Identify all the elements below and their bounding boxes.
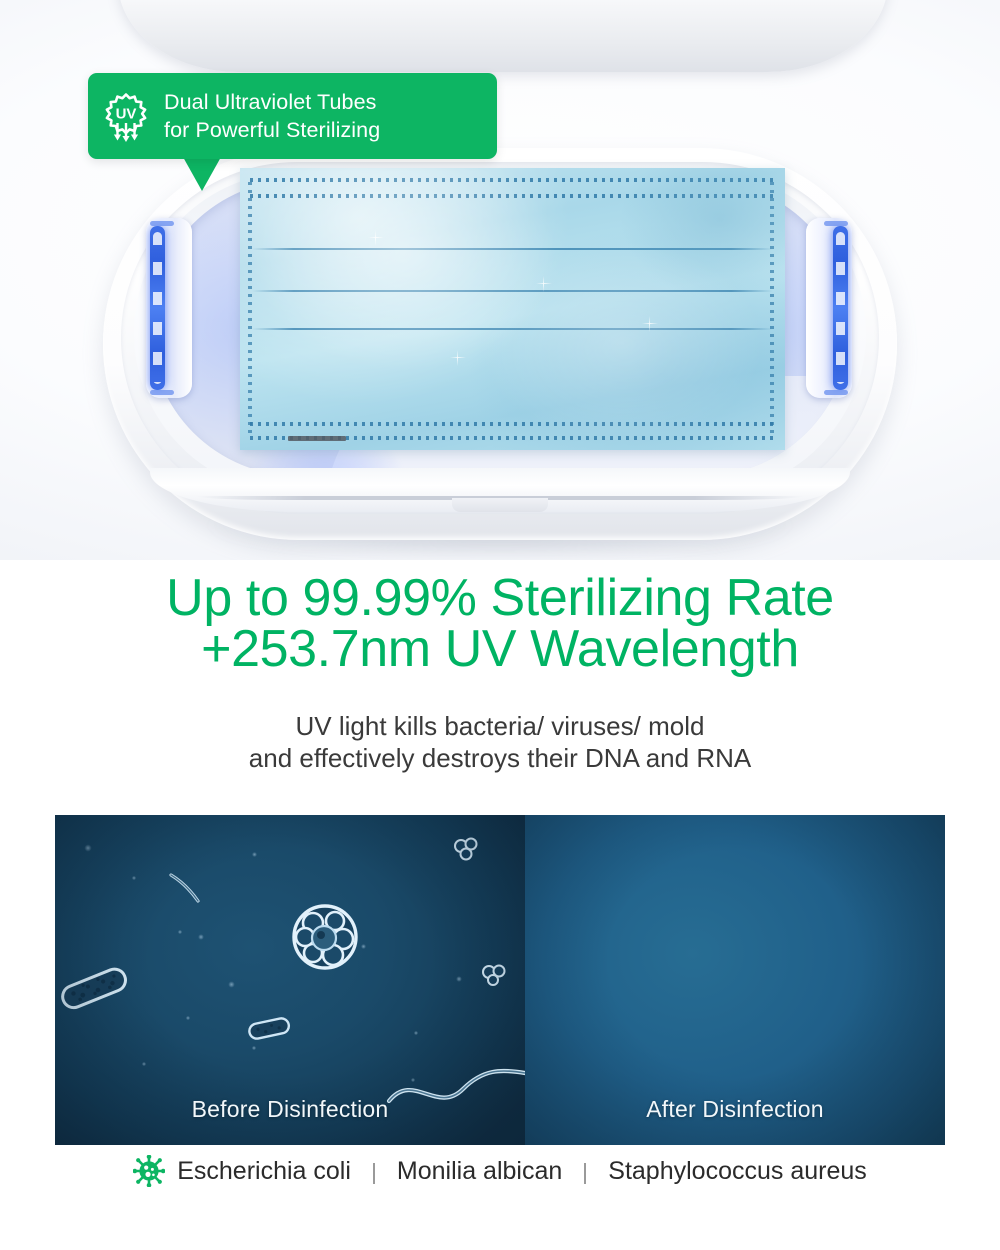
mask-nose-strip: [288, 436, 346, 441]
headline-line-2: +253.7nm UV Wavelength: [0, 624, 1000, 675]
speck: [251, 1045, 257, 1051]
page-subheadline: UV light kills bacteria/ viruses/ mold a…: [0, 710, 1000, 774]
uv-tube-right: [806, 218, 852, 398]
callout-text: Dual Ultraviolet Tubes for Powerful Ster…: [164, 88, 390, 144]
callout-line-1: Dual Ultraviolet Tubes: [164, 88, 380, 116]
legend-separator: [373, 1163, 375, 1184]
mask-pleat-1: [252, 248, 773, 250]
mask-stitch-top: [250, 178, 775, 182]
base-front-latch: [452, 498, 548, 512]
mask-sparkle-3: [450, 350, 466, 366]
uv-tube-left: [146, 218, 192, 398]
disinfection-comparison: Before Disinfection After Disinfection: [55, 815, 945, 1145]
sterilizer-lid: [118, 0, 888, 72]
page-headline: Up to 99.99% Sterilizing Rate +253.7nm U…: [0, 573, 1000, 675]
legend-item-0: Escherichia coli: [177, 1157, 351, 1186]
uv-cap-left-bottom: [150, 390, 174, 395]
after-disinfection-label: After Disinfection: [525, 1096, 945, 1123]
uv-cap-right-bottom: [824, 390, 848, 395]
mask-sparkle-2: [536, 276, 552, 292]
surgical-mask: [240, 168, 785, 450]
uv-cap-left-top: [150, 221, 174, 226]
speck: [131, 875, 137, 881]
speck: [197, 933, 205, 941]
legend-separator: [584, 1163, 586, 1184]
speck: [413, 1030, 419, 1036]
speck: [177, 929, 183, 935]
mask-sparkle-4: [642, 316, 658, 332]
mask-stitch-right: [770, 182, 774, 436]
callout-tail: [183, 157, 221, 191]
speck: [455, 975, 463, 983]
spirochete-filament-microbe: [385, 1063, 525, 1115]
coccus-cluster-microbe: [451, 835, 481, 863]
rod-bacterium-microbe: [245, 1013, 293, 1043]
germ-legend: Escherichia coli Monilia albican Staphyl…: [0, 1155, 1000, 1187]
mask-pleat-2: [252, 290, 773, 292]
speck: [83, 843, 93, 853]
curved-bacillus-microbe: [167, 871, 205, 905]
coccus-cluster-microbe: [479, 961, 509, 989]
uv-cap-right-top: [824, 221, 848, 226]
mask-sparkle-1: [368, 230, 384, 246]
speck: [251, 851, 258, 858]
legend-item-1: Monilia albican: [397, 1157, 562, 1186]
mold-spore-cluster-microbe: [283, 895, 367, 979]
callout-line-2: for Powerful Sterilizing: [164, 116, 380, 144]
speck: [141, 1061, 147, 1067]
germ-virus-icon: [133, 1155, 165, 1187]
uv-sun-arrows-icon: UV: [88, 90, 164, 142]
mask-pleat-3: [252, 328, 773, 330]
headline-line-1: Up to 99.99% Sterilizing Rate: [166, 569, 834, 627]
subhead-line-1: UV light kills bacteria/ viruses/ mold: [0, 710, 1000, 742]
uv-segments-left: [153, 232, 162, 384]
mask-sheen: [240, 168, 785, 450]
rod-bacterium-microbe: [55, 965, 135, 1011]
mask-stitch-top2: [250, 194, 775, 198]
uv-callout-badge: UV Dual Ultraviolet Tubes for Powerful S…: [88, 73, 497, 159]
subhead-line-2: and effectively destroys their DNA and R…: [0, 742, 1000, 774]
mask-stitch-bottom: [250, 422, 775, 426]
mask-stitch-left: [248, 182, 252, 436]
after-disinfection-panel: After Disinfection: [525, 815, 945, 1145]
speck: [185, 1015, 191, 1021]
uv-segments-right: [836, 232, 845, 384]
before-disinfection-panel: Before Disinfection: [55, 815, 525, 1145]
speck: [227, 980, 236, 989]
legend-item-2: Staphylococcus aureus: [608, 1157, 866, 1186]
svg-text:UV: UV: [116, 106, 137, 123]
